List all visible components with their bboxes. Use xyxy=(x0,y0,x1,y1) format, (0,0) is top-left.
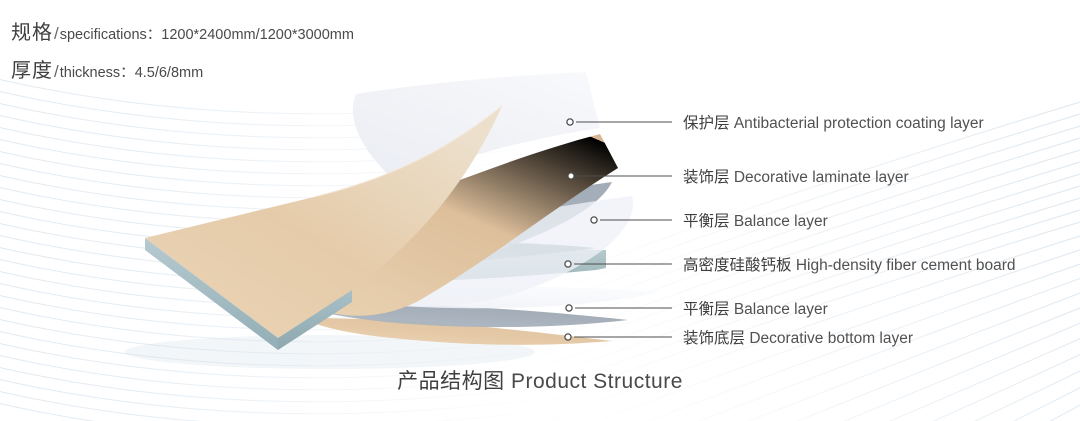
callout-label-balance-upper: 平衡层 Balance layer xyxy=(683,209,828,231)
callout-label-cn: 装饰底层 xyxy=(683,330,745,347)
callout-label-cn: 平衡层 xyxy=(683,301,730,318)
callout-label-en: Antibacterial protection coating layer xyxy=(734,115,984,132)
product-structure-infographic: 规格/specifications：1200*2400mm/1200*3000m… xyxy=(0,0,1080,421)
callout-label-laminate: 装饰层 Decorative laminate layer xyxy=(683,165,909,187)
callout-dot-3 xyxy=(591,217,597,223)
callout-label-cn: 装饰层 xyxy=(683,169,730,186)
callout-dot-5 xyxy=(566,305,572,311)
callout-dot-4 xyxy=(565,261,571,267)
callout-dot-2 xyxy=(568,173,574,179)
callout-label-cn: 高密度硅酸钙板 xyxy=(683,257,792,274)
callout-label-cn: 平衡层 xyxy=(683,213,730,230)
caption-en: Product Structure xyxy=(511,370,683,393)
callout-dot-6 xyxy=(565,334,571,340)
callout-lines-group xyxy=(0,0,1080,421)
callout-label-en: Balance layer xyxy=(734,301,828,318)
callout-label-en: Decorative bottom layer xyxy=(749,330,913,347)
callout-label-en: Balance layer xyxy=(734,213,828,230)
callout-label-protection: 保护层 Antibacterial protection coating lay… xyxy=(683,111,984,133)
callout-label-en: Decorative laminate layer xyxy=(734,169,909,186)
figure-caption: 产品结构图 Product Structure xyxy=(0,365,1080,395)
caption-cn: 产品结构图 xyxy=(397,370,505,393)
callout-dot-1 xyxy=(567,119,573,125)
leader-lines xyxy=(574,122,672,337)
callout-label-en: High-density fiber cement board xyxy=(796,257,1016,274)
callout-label-balance-lower: 平衡层 Balance layer xyxy=(683,297,828,319)
callout-label-decorative-bottom: 装饰底层 Decorative bottom layer xyxy=(683,326,913,348)
callout-label-cement-board: 高密度硅酸钙板 High-density fiber cement board xyxy=(683,253,1016,275)
leader-dots xyxy=(565,119,597,340)
callout-label-cn: 保护层 xyxy=(683,115,730,132)
